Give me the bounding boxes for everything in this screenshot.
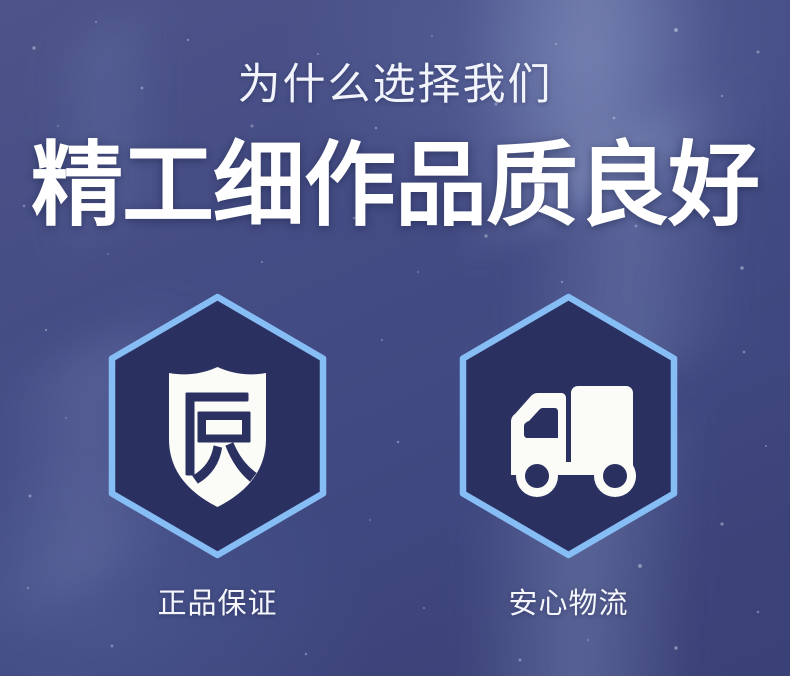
- banner-headline: 精工细作品质良好: [0, 140, 790, 232]
- feature-badge-reliable-logistics[interactable]: [453, 294, 684, 558]
- feature-badge-group: 正品保证 安心物流: [0, 294, 790, 634]
- banner-subtitle: 为什么选择我们: [0, 64, 790, 107]
- feature-label-authenticity-guarantee: 正品保证: [102, 590, 333, 619]
- shield-quality-icon: [102, 294, 333, 558]
- feature-label-reliable-logistics: 安心物流: [453, 590, 684, 619]
- hexagon-frame: [463, 297, 674, 555]
- promo-banner: 为什么选择我们 精工细作品质良好: [0, 0, 790, 676]
- feature-badge-authenticity-guarantee[interactable]: [102, 294, 333, 558]
